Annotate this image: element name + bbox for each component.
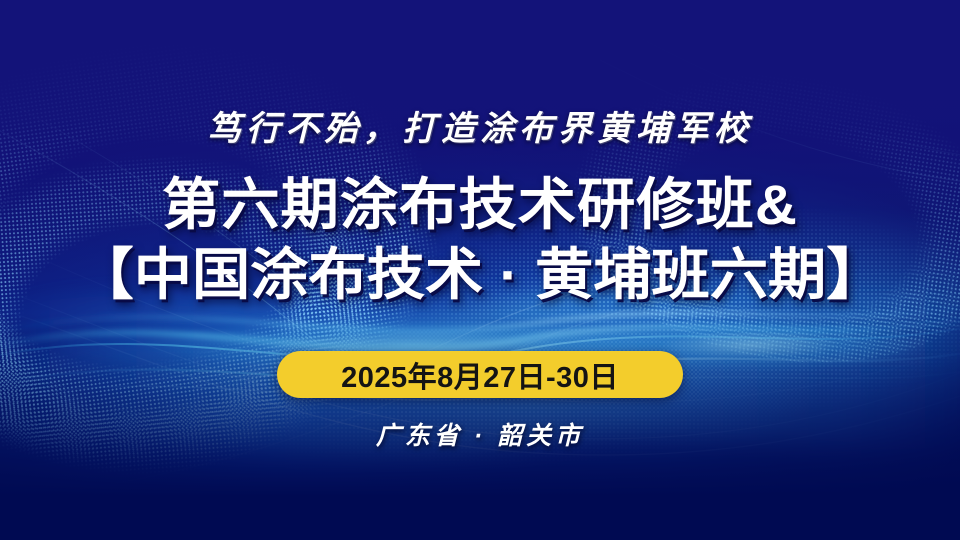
poster-tagline: 笃行不殆，打造涂布界黄埔军校	[0, 101, 960, 150]
event-date-badge: 2025年8月27日-30日	[277, 351, 683, 398]
poster-title: 第六期涂布技术研修班& 【中国涂布技术 · 黄埔班六期】	[0, 170, 960, 310]
poster-title-line-1: 第六期涂布技术研修班&	[0, 170, 960, 240]
poster-content: 笃行不殆，打造涂布界黄埔军校 第六期涂布技术研修班& 【中国涂布技术 · 黄埔班…	[0, 0, 960, 540]
poster-title-line-2: 【中国涂布技术 · 黄埔班六期】	[0, 240, 960, 310]
event-poster: 笃行不殆，打造涂布界黄埔军校 第六期涂布技术研修班& 【中国涂布技术 · 黄埔班…	[0, 0, 960, 540]
event-location: 广东省 · 韶关市	[0, 416, 960, 452]
